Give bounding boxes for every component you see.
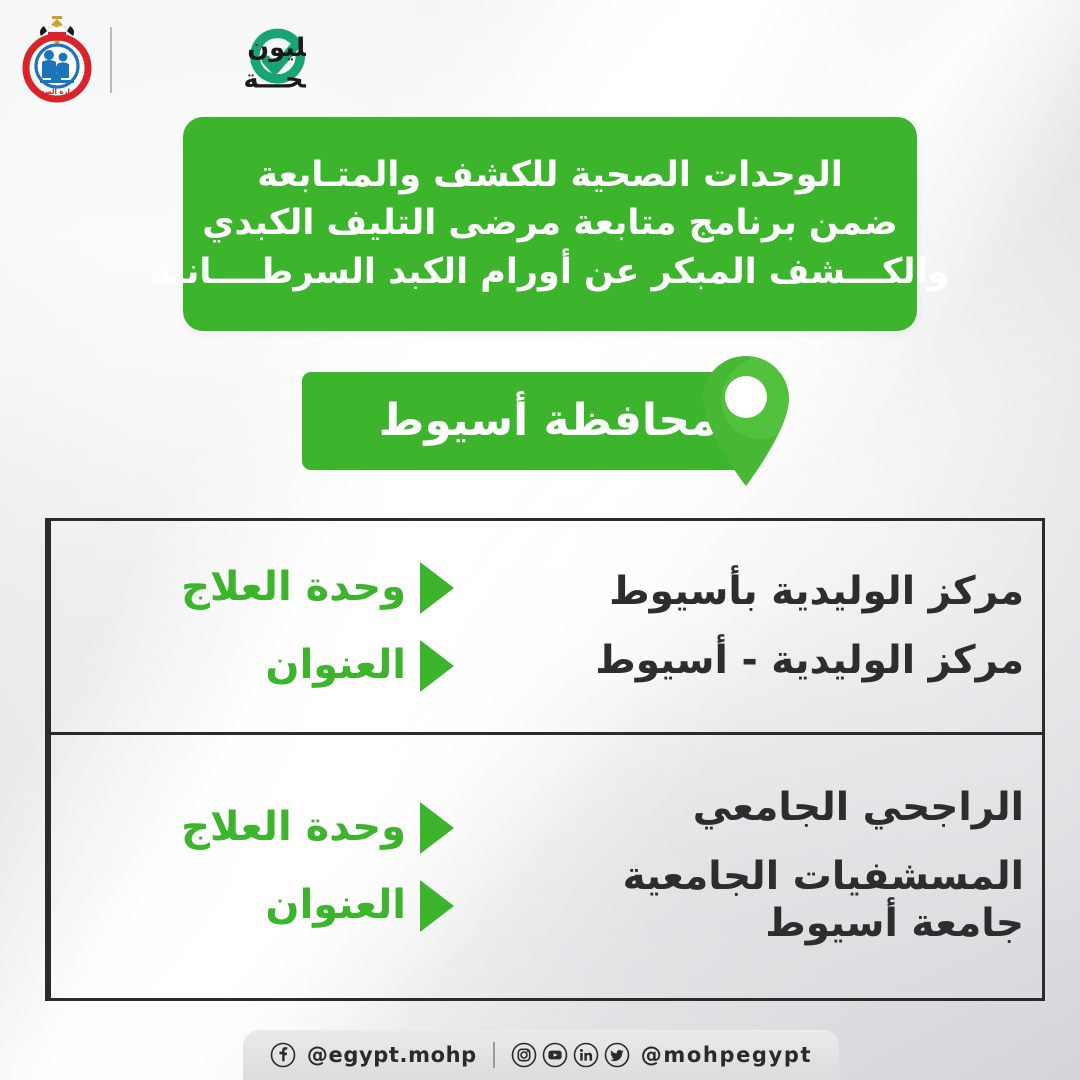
arrow-left-icon [420,640,454,692]
shared-social-handle[interactable]: @mohpegypt [641,1043,812,1067]
facebook-icon[interactable] [270,1042,296,1068]
title-banner: الوحدات الصحية للكشف والمتـابعة ضمن برنا… [183,117,917,331]
svg-text:صـــحـــة: صـــحـــة [243,64,306,94]
youtube-icon[interactable] [542,1042,568,1068]
linkedin-icon[interactable] [573,1042,599,1068]
social-icon-group [511,1042,630,1068]
governorate-label: محافظة أسيوط [379,399,718,443]
infographic-page: وزارة الصحة ١٠٠ مليون صـــحـــة الوحدات … [0,0,1080,1080]
title-line-1: الوحدات الصحية للكشف والمتـابعة [257,156,843,195]
address-label-line: العنوان [65,640,454,692]
100-million-health-logo: ١٠٠ مليون صـــحـــة [126,24,306,96]
map-pin-icon [694,350,798,492]
arrow-left-icon [420,802,454,854]
governorate-banner: محافظة أسيوط [302,372,746,470]
unit-label-line: وحدة العلاج [65,562,454,614]
health-units-table: مركز الوليدية بأسيوط مركز الوليدية - أسي… [45,518,1045,1001]
unit-label: وحدة العلاج [181,564,406,611]
table-cell-values-row1: مركز الوليدية بأسيوط مركز الوليدية - أسي… [480,521,1042,732]
address-label: العنوان [265,642,406,689]
logo-divider [110,27,112,93]
table-row: مركز الوليدية بأسيوط مركز الوليدية - أسي… [48,521,1042,735]
address-label-line: العنوان [65,880,454,932]
governorate-banner-wrap: محافظة أسيوط [302,372,746,470]
ministry-of-health-emblem: وزارة الصحة [18,14,96,106]
footer-divider [493,1042,495,1068]
svg-text:١٠٠ مليون: ١٠٠ مليون [247,33,306,63]
address-value: مركز الوليدية - أسيوط [506,638,1024,685]
unit-label-line: وحدة العلاج [65,802,454,854]
title-line-2: ضمن برنامج متابعة مرضى التليف الكبدي [202,204,897,243]
svg-text:وزارة الصحة: وزارة الصحة [36,88,79,96]
facebook-handle[interactable]: @egypt.mohp [307,1043,477,1067]
arrow-left-icon [420,562,454,614]
unit-value: مركز الوليدية بأسيوط [506,569,1024,616]
title-line-3: والكـــشف المبكر عن أورام الكبد السرطـــ… [151,253,949,292]
address-label: العنوان [265,882,406,929]
unit-value: الراجحي الجامعي [506,785,1024,832]
instagram-icon[interactable] [511,1042,537,1068]
social-footer-bar: @egypt.mohp [243,1030,839,1080]
arrow-left-icon [420,880,454,932]
table-row: الراجحي الجامعي المسشفيات الجامعية جامعة… [48,735,1042,998]
table-cell-labels-row1: وحدة العلاج العنوان [48,521,480,732]
address-value: المسشفيات الجامعية جامعة أسيوط [506,854,1024,948]
table-cell-labels-row2: وحدة العلاج العنوان [48,735,480,998]
header-logo-bar: وزارة الصحة ١٠٠ مليون صـــحـــة [18,14,306,106]
table-cell-values-row2: الراجحي الجامعي المسشفيات الجامعية جامعة… [480,735,1042,998]
unit-label: وحدة العلاج [181,804,406,851]
twitter-icon[interactable] [604,1042,630,1068]
